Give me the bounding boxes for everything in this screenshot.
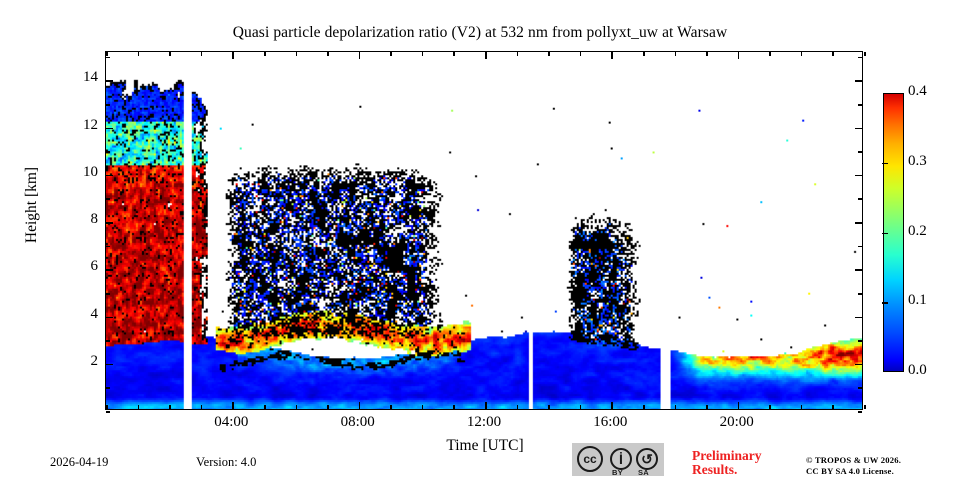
- x-tick-top: [769, 52, 771, 56]
- x-tick-top: [706, 52, 708, 56]
- y-tick-label: 14: [58, 69, 98, 86]
- depolarization-heatmap: [106, 52, 862, 409]
- x-tick-top: [453, 52, 455, 56]
- y-tick: [106, 340, 110, 342]
- y-tick-label: 12: [58, 117, 98, 134]
- y-tick: [106, 293, 110, 295]
- copyright-line-1: © TROPOS & UW 2026.: [806, 455, 901, 466]
- x-tick-top: [675, 52, 677, 56]
- x-tick-top: [485, 52, 487, 59]
- x-tick-top: [422, 52, 424, 56]
- y-tick-right: [858, 151, 862, 153]
- y-tick: [106, 151, 110, 153]
- y-tick-label: 6: [58, 258, 98, 275]
- y-tick-label: 10: [58, 164, 98, 181]
- y-tick: [106, 411, 110, 413]
- y-tick-label: 8: [58, 211, 98, 228]
- colorbar-tick: [882, 302, 888, 304]
- y-tick: [106, 246, 110, 248]
- x-tick: [485, 402, 487, 409]
- y-tick-right: [858, 198, 862, 200]
- cc-license-badge[interactable]: cc İ ↺ BY SA: [572, 443, 664, 476]
- figure-date: 2026-04-19: [50, 455, 108, 470]
- x-tick-top: [359, 52, 361, 59]
- x-tick: [201, 405, 203, 409]
- x-tick: [359, 402, 361, 409]
- colorbar-tick-label: 0.3: [908, 153, 927, 170]
- y-tick-right: [858, 57, 862, 59]
- copyright-line-2: CC BY SA 4.0 License.: [806, 466, 901, 477]
- figure-version: Version: 4.0: [196, 455, 256, 470]
- x-tick-label: 16:00: [570, 414, 650, 431]
- x-tick: [138, 405, 140, 409]
- y-tick-right: [858, 246, 862, 248]
- colorbar-tick-label: 0.0: [908, 362, 927, 379]
- x-tick-label: 04:00: [191, 414, 271, 431]
- y-tick: [106, 269, 113, 271]
- x-tick-top: [232, 52, 234, 59]
- page-title: Quasi particle depolarization ratio (V2)…: [0, 24, 960, 42]
- x-tick-top: [864, 52, 866, 56]
- x-tick: [801, 405, 803, 409]
- y-tick-right: [855, 269, 862, 271]
- x-tick-label: 08:00: [318, 414, 398, 431]
- y-tick: [106, 317, 113, 319]
- x-tick-label: 20:00: [697, 414, 777, 431]
- colorbar-tick: [882, 233, 888, 235]
- x-tick: [327, 405, 329, 409]
- y-tick-right: [858, 104, 862, 106]
- x-tick: [232, 402, 234, 409]
- x-tick: [864, 405, 866, 409]
- x-tick: [169, 405, 171, 409]
- x-tick-top: [611, 52, 613, 59]
- preliminary-results-note: Preliminary Results.: [692, 449, 802, 477]
- cc-icon: cc: [577, 446, 603, 472]
- x-tick-top: [738, 52, 740, 59]
- x-tick: [422, 405, 424, 409]
- x-tick: [643, 405, 645, 409]
- x-tick-top: [390, 52, 392, 56]
- y-tick-right: [855, 317, 862, 319]
- x-tick-top: [548, 52, 550, 56]
- y-tick-right: [855, 80, 862, 82]
- cc-badge-icons: cc İ ↺: [572, 444, 664, 468]
- colorbar-tick-label: 0.2: [908, 223, 927, 240]
- y-tick: [106, 128, 113, 130]
- x-tick-top: [296, 52, 298, 56]
- x-tick: [832, 405, 834, 409]
- y-tick: [106, 387, 110, 389]
- cc-by-label: BY: [612, 468, 623, 477]
- x-tick: [706, 405, 708, 409]
- y-tick-right: [858, 411, 862, 413]
- x-tick: [611, 402, 613, 409]
- x-tick-top: [169, 52, 171, 56]
- x-tick: [264, 405, 266, 409]
- copyright-note: © TROPOS & UW 2026. CC BY SA 4.0 License…: [806, 455, 901, 477]
- y-tick-right: [855, 222, 862, 224]
- x-tick-top: [832, 52, 834, 56]
- y-tick-label: 2: [58, 353, 98, 370]
- y-tick-right: [858, 293, 862, 295]
- colorbar-tick-label: 0.4: [908, 83, 927, 100]
- x-tick: [106, 405, 108, 409]
- x-tick: [738, 402, 740, 409]
- x-tick-label: 12:00: [444, 414, 524, 431]
- x-tick-top: [106, 52, 108, 56]
- y-tick-right: [855, 175, 862, 177]
- x-tick: [548, 405, 550, 409]
- x-tick: [675, 405, 677, 409]
- x-tick: [390, 405, 392, 409]
- y-tick-right: [858, 387, 862, 389]
- y-axis-label: Height [km]: [23, 125, 41, 285]
- x-tick-top: [580, 52, 582, 56]
- x-tick: [517, 405, 519, 409]
- cc-sa-icon: ↺: [636, 448, 658, 470]
- x-tick: [580, 405, 582, 409]
- y-tick: [106, 80, 113, 82]
- x-tick: [769, 405, 771, 409]
- x-tick-top: [801, 52, 803, 56]
- colorbar-tick: [882, 163, 888, 165]
- plot-axes[interactable]: [105, 51, 863, 410]
- y-tick-right: [858, 340, 862, 342]
- x-tick-top: [264, 52, 266, 56]
- x-tick-top: [201, 52, 203, 56]
- x-tick-top: [517, 52, 519, 56]
- y-tick: [106, 104, 110, 106]
- x-axis-label: Time [UTC]: [0, 437, 960, 455]
- y-tick: [106, 198, 110, 200]
- colorbar-tick-label: 0.1: [908, 292, 927, 309]
- quicklook-figure: Quasi particle depolarization ratio (V2)…: [0, 0, 960, 480]
- y-tick: [106, 222, 113, 224]
- y-tick-right: [855, 128, 862, 130]
- cc-by-icon: İ: [610, 448, 632, 470]
- x-tick-top: [643, 52, 645, 56]
- preliminary-line-2: Results.: [692, 463, 802, 477]
- x-tick-top: [138, 52, 140, 56]
- preliminary-line-1: Preliminary: [692, 449, 802, 463]
- y-tick: [106, 57, 110, 59]
- colorbar[interactable]: [883, 93, 904, 372]
- x-tick: [296, 405, 298, 409]
- y-tick-label: 4: [58, 306, 98, 323]
- x-tick: [453, 405, 455, 409]
- y-tick-right: [855, 364, 862, 366]
- cc-sa-label: SA: [638, 468, 649, 477]
- y-tick: [106, 364, 113, 366]
- x-tick-top: [327, 52, 329, 56]
- y-tick: [106, 175, 113, 177]
